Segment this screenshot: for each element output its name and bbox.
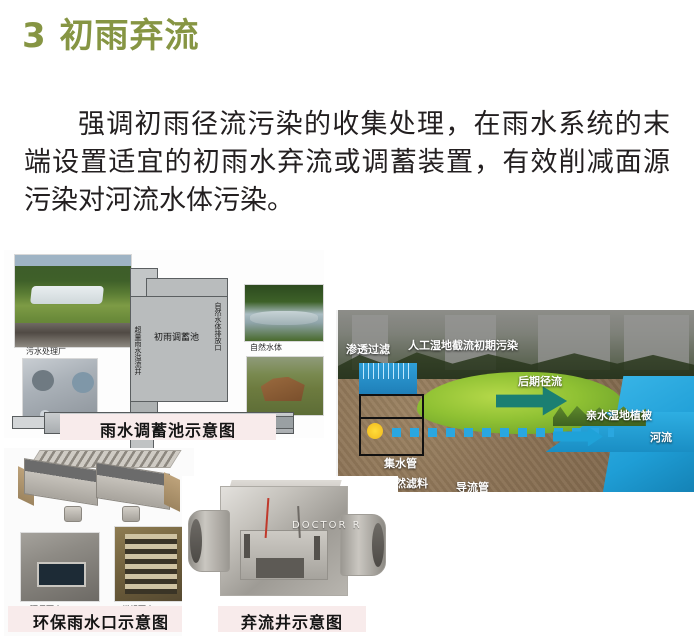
well-bolt-left bbox=[244, 534, 250, 558]
well-inspection-window bbox=[256, 558, 304, 578]
well-brand-text: DOCTOR R bbox=[292, 520, 362, 531]
label-hydrophilic-vegetation: 亲水湿地植被 bbox=[586, 410, 652, 423]
label-permeation-filtration: 渗透过滤 bbox=[346, 344, 390, 357]
label-guide-pipe: 导流管 bbox=[456, 482, 489, 492]
figure-constructed-wetland: 渗透过滤 人工湿地截流初期污染 后期径流 亲水湿地植被 河流 集水管 天然滤料 … bbox=[336, 310, 694, 492]
label-overflow-well-vertical: 超量雨水溢流井 bbox=[134, 326, 141, 375]
label-collection-pipe: 集水管 bbox=[384, 458, 417, 471]
label-wastewater-plant: 污水处理厂 bbox=[26, 346, 66, 357]
tank-schematic: 超量雨水溢流井 自然水体排放口 初雨调蓄池 bbox=[130, 268, 254, 408]
photo-treatment-pond bbox=[14, 254, 132, 348]
inlet-body-right bbox=[96, 462, 170, 510]
label-natural-water-body: 自然水体 bbox=[250, 342, 282, 353]
inlet-outlet-pipe-left bbox=[64, 506, 82, 522]
inlet-outlet-pipe-right bbox=[122, 506, 140, 522]
inlet-3d-model bbox=[18, 450, 178, 516]
label-wetland-interception: 人工湿地截流初期污染 bbox=[408, 340, 528, 353]
caption-well-text: 弃流井示意图 bbox=[218, 609, 366, 633]
photo-natural-water-body bbox=[244, 284, 324, 342]
photo-rural-land bbox=[246, 356, 324, 416]
caption-inlet-text: 环保雨水口示意图 bbox=[8, 609, 194, 633]
wetland-collection-node-icon bbox=[367, 423, 383, 439]
caption-band-well: 弃流井示意图 bbox=[218, 606, 366, 632]
caption-band-inlet: 环保雨水口示意图 bbox=[8, 606, 194, 632]
label-late-runoff: 后期径流 bbox=[518, 376, 562, 389]
well-bolt-right bbox=[314, 536, 320, 560]
slide-page: 3 初雨弃流 强调初雨径流污染的收集处理，在雨水系统的末端设置适宜的初雨水弃流或… bbox=[0, 0, 694, 638]
photo-eco-inlet: 井雨水科技 bbox=[20, 532, 100, 602]
caption-tank-text: 雨水调蓄池示意图 bbox=[60, 417, 276, 441]
label-river: 河流 bbox=[650, 432, 672, 445]
photo-standard-inlet bbox=[114, 526, 188, 602]
figure-rainwater-storage-tank: 自然水体 污水处理厂 超量雨水溢流井 自然水体排放口 初雨调蓄池 bbox=[4, 250, 324, 438]
label-outfall-vertical: 自然水体排放口 bbox=[214, 302, 221, 351]
label-storage-tank: 初雨调蓄池 bbox=[154, 330, 199, 343]
wetland-infiltration-arrows-icon bbox=[363, 363, 413, 379]
body-paragraph: 强调初雨径流污染的收集处理，在雨水系统的末端设置适宜的初雨水弃流或调蓄装置，有效… bbox=[24, 106, 670, 220]
caption-band-tank: 雨水调蓄池示意图 bbox=[60, 414, 276, 440]
figure-first-flush-well: DOCTOR R 弃流井示意图 bbox=[182, 476, 398, 636]
well-flange-left bbox=[188, 510, 230, 572]
page-title: 3 初雨弃流 bbox=[22, 8, 200, 57]
